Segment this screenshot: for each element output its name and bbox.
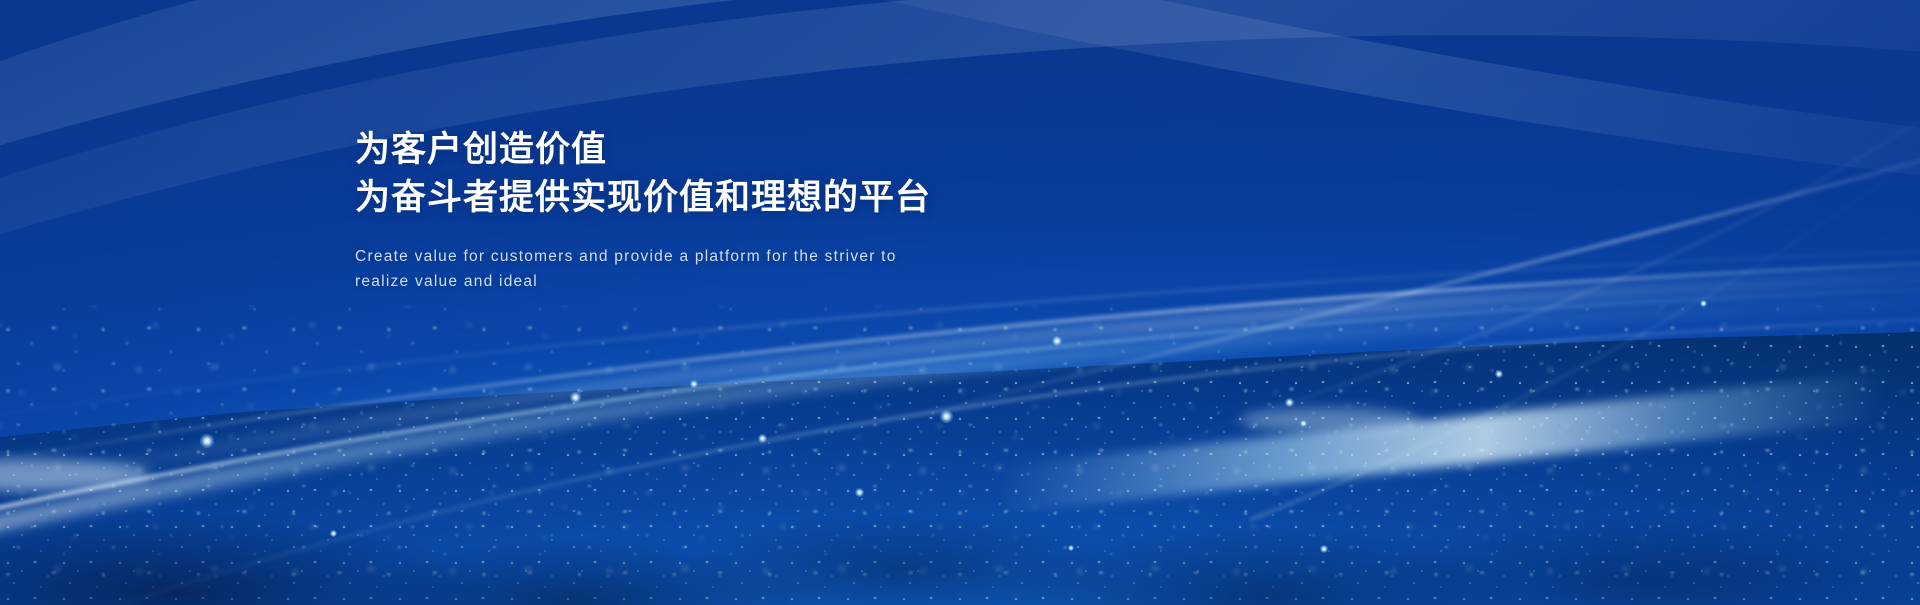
banner-copy: 为客户创造价值 为奋斗者提供实现价值和理想的平台 Create value fo…	[355, 126, 1115, 294]
sky-arc-decoration	[0, 0, 1920, 605]
hero-banner: 为客户创造价值 为奋斗者提供实现价值和理想的平台 Create value fo…	[0, 0, 1920, 605]
subtitle-line-1: Create value for customers and provide a…	[355, 248, 819, 265]
subtitle: Create value for customers and provide a…	[355, 244, 900, 294]
headline-line-2: 为奋斗者提供实现价值和理想的平台	[355, 174, 1115, 222]
headline-line-1: 为客户创造价值	[355, 126, 1115, 174]
